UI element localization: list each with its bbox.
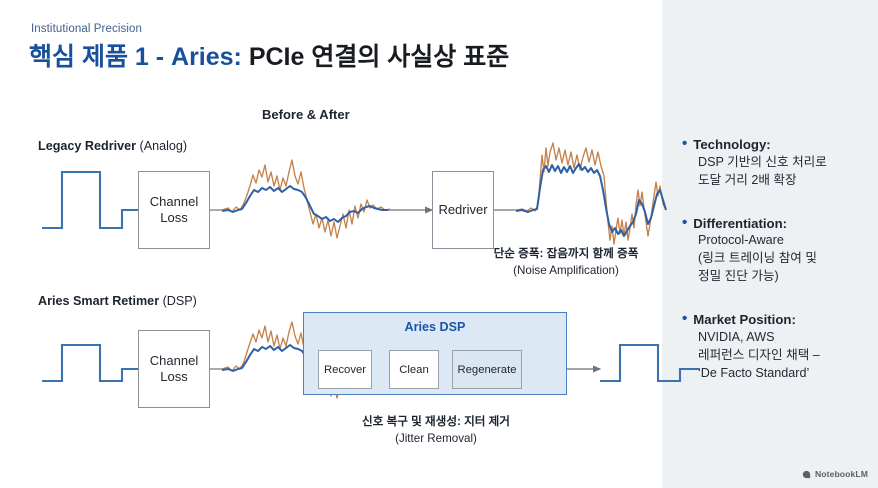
bullet-body-text: DSP 기반의 신호 처리로 도달 거리 2배 확장 [698, 154, 878, 190]
bullet-body-text: Protocol-Aware (링크 트레이닝 참여 및 정밀 진단 가능) [698, 232, 878, 286]
page-title-dark: PCIe 연결의 사실상 표준 [249, 43, 509, 71]
notebooklm-logo-icon [802, 470, 811, 479]
row-label-aries-bold: Aries Smart Retimer [38, 294, 159, 308]
block-channel-loss-top[interactable]: Channel Loss [138, 171, 210, 249]
top-input-square-wave [42, 172, 140, 228]
signal-trace-blue [222, 186, 388, 222]
dsp-stage-regenerate[interactable]: Regenerate [452, 350, 522, 389]
notebooklm-watermark: NotebookLM [802, 469, 868, 479]
aries-dsp-title: Aries DSP [304, 320, 566, 334]
dsp-stage-regenerate-label: Regenerate [457, 364, 516, 376]
block-channel-loss-bottom-label: Channel Loss [150, 353, 198, 384]
bullet-item-technology: • Technology: DSP 기반의 신호 처리로 도달 거리 2배 확장 [682, 136, 878, 190]
caption-noise-line1: 단순 증폭: 잡음까지 함께 증폭 [471, 246, 661, 263]
caption-jitter-removal: 신호 복구 및 재생성: 지터 제거 (Jitter Removal) [338, 414, 534, 448]
bullet-heading: • Market Position: [682, 311, 878, 329]
bullet-item-market-position: • Market Position: NVIDIA, AWS 레퍼런스 디자인 … [682, 311, 878, 382]
bullet-heading: • Technology: [682, 136, 878, 154]
bullet-dot-icon: • [682, 215, 687, 231]
slide-canvas: • Technology: DSP 기반의 신호 처리로 도달 거리 2배 확장… [0, 0, 878, 488]
caption-noise-amplification: 단순 증폭: 잡음까지 함께 증폭 (Noise Amplification) [471, 246, 661, 280]
block-channel-loss-top-label: Channel Loss [150, 194, 198, 225]
noise-trace-orange [222, 160, 390, 238]
bottom-input-square-wave [42, 345, 140, 381]
row-label-legacy-redriver: Legacy Redriver (Analog) [38, 139, 187, 153]
bullet-list: • Technology: DSP 기반의 신호 처리로 도달 거리 2배 확장… [682, 136, 878, 407]
notebooklm-watermark-label: NotebookLM [815, 469, 868, 479]
bullet-heading-text: Market Position: [693, 311, 796, 329]
section-heading-before-after: Before & After [262, 107, 350, 122]
top-amplified-signal-waveform [516, 143, 666, 244]
block-redriver[interactable]: Redriver [432, 171, 494, 249]
row-label-aries-retimer: Aries Smart Retimer (DSP) [38, 294, 197, 308]
page-title: 핵심 제품 1 - Aries: PCIe 연결의 사실상 표준 [29, 42, 509, 72]
dsp-stage-clean-label: Clean [399, 364, 429, 376]
bullet-item-differentiation: • Differentiation: Protocol-Aware (링크 트레… [682, 215, 878, 286]
kicker-label: Institutional Precision [31, 23, 142, 35]
bullet-heading: • Differentiation: [682, 215, 878, 233]
bullet-dot-icon: • [682, 136, 687, 152]
dsp-stage-recover-label: Recover [324, 364, 366, 376]
bullet-heading-text: Technology: [693, 136, 770, 154]
caption-jitter-line2: (Jitter Removal) [338, 431, 534, 448]
row-label-aries-rest: (DSP) [159, 294, 197, 308]
bullet-body-text: NVIDIA, AWS 레퍼런스 디자인 채택 – ‘De Facto Stan… [698, 329, 878, 383]
noise-trace-orange [516, 143, 666, 244]
dsp-stage-clean[interactable]: Clean [389, 350, 439, 389]
right-info-panel: • Technology: DSP 기반의 신호 처리로 도달 거리 2배 확장… [662, 0, 878, 488]
caption-noise-line2: (Noise Amplification) [471, 263, 661, 280]
bullet-dot-icon: • [682, 311, 687, 327]
page-title-blue: 핵심 제품 1 - Aries: [29, 43, 242, 71]
bullet-heading-text: Differentiation: [693, 215, 787, 233]
signal-trace-blue [516, 164, 666, 236]
caption-jitter-line1: 신호 복구 및 재생성: 지터 제거 [338, 414, 534, 431]
row-label-legacy-rest: (Analog) [136, 139, 187, 153]
top-degraded-signal-waveform [222, 160, 390, 238]
row-label-legacy-bold: Legacy Redriver [38, 139, 136, 153]
dsp-stage-recover[interactable]: Recover [318, 350, 372, 389]
block-redriver-label: Redriver [438, 202, 487, 218]
block-channel-loss-bottom[interactable]: Channel Loss [138, 330, 210, 408]
